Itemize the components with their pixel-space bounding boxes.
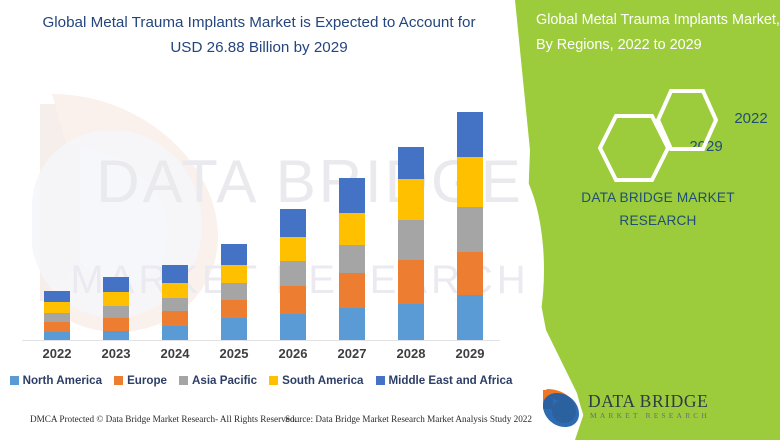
bar-segment-2023-europe xyxy=(103,318,129,331)
bar-segment-2024-middle-east-and-africa xyxy=(162,265,188,283)
x-axis-label-2022: 2022 xyxy=(28,346,86,361)
bar-segment-2026-north-america xyxy=(280,314,306,340)
bar-segment-2029-europe xyxy=(457,252,483,295)
legend-item-south-america[interactable]: South America xyxy=(269,374,363,387)
bar-segment-2029-middle-east-and-africa xyxy=(457,112,483,157)
bar-segment-2023-north-america xyxy=(103,331,129,340)
legend-label: North America xyxy=(23,374,102,387)
bar-segment-2026-asia-pacific xyxy=(280,261,306,286)
bar-2028 xyxy=(398,147,424,340)
bar-segment-2028-asia-pacific xyxy=(398,220,424,260)
bar-2023 xyxy=(103,277,129,340)
legend-item-asia-pacific[interactable]: Asia Pacific xyxy=(179,374,257,387)
bar-segment-2023-middle-east-and-africa xyxy=(103,277,129,292)
x-axis-label-2024: 2024 xyxy=(146,346,204,361)
hexagon-2022-label: 2022 xyxy=(719,110,780,127)
bar-segment-2024-asia-pacific xyxy=(162,298,188,311)
bar-segment-2029-south-america xyxy=(457,157,483,207)
chart-x-axis-labels: 20222023202420252026202720282029 xyxy=(0,346,510,366)
infographic-canvas: DATA BRIDGE MARKET RESEARCH Global Metal… xyxy=(0,0,780,440)
bar-segment-2029-north-america xyxy=(457,295,483,340)
legend-swatch-icon xyxy=(376,376,385,385)
legend-label: Europe xyxy=(127,374,167,387)
bar-segment-2026-middle-east-and-africa xyxy=(280,209,306,237)
legend-item-middle-east-and-africa[interactable]: Middle East and Africa xyxy=(376,374,513,387)
panel-title: Global Metal Trauma Implants Market, By … xyxy=(536,8,780,58)
bar-segment-2028-europe xyxy=(398,260,424,304)
x-axis-label-2029: 2029 xyxy=(441,346,499,361)
panel-brand-text: DATA BRIDGE MARKET RESEARCH xyxy=(552,186,764,232)
bar-2025 xyxy=(221,244,247,340)
bar-segment-2029-asia-pacific xyxy=(457,207,483,252)
bar-segment-2023-south-america xyxy=(103,292,129,306)
stacked-bar-chart: 20222023202420252026202720282029 xyxy=(0,0,510,350)
legend-swatch-icon xyxy=(179,376,188,385)
bar-2022 xyxy=(44,291,70,340)
bar-segment-2027-south-america xyxy=(339,213,365,245)
legend-swatch-icon xyxy=(269,376,278,385)
x-axis-label-2025: 2025 xyxy=(205,346,263,361)
bar-segment-2026-south-america xyxy=(280,237,306,261)
logo-b-icon xyxy=(540,387,582,429)
logo-wordmark: DATA BRIDGE xyxy=(588,391,708,412)
bar-2027 xyxy=(339,178,365,340)
chart-axis-line xyxy=(22,340,500,341)
chart-legend: North AmericaEuropeAsia PacificSouth Ame… xyxy=(12,371,510,389)
bar-segment-2025-asia-pacific xyxy=(221,283,247,300)
x-axis-label-2028: 2028 xyxy=(382,346,440,361)
legend-item-europe[interactable]: Europe xyxy=(114,374,167,387)
bar-segment-2024-south-america xyxy=(162,283,188,298)
bar-segment-2027-north-america xyxy=(339,308,365,340)
x-axis-label-2023: 2023 xyxy=(87,346,145,361)
hexagon-2022: 2022 xyxy=(655,88,719,152)
bar-segment-2026-europe xyxy=(280,286,306,314)
bar-2024 xyxy=(162,265,188,340)
bar-segment-2024-europe xyxy=(162,311,188,326)
legend-swatch-icon xyxy=(10,376,19,385)
bar-segment-2025-north-america xyxy=(221,318,247,340)
footer-source: Source: Data Bridge Market Research Mark… xyxy=(285,414,532,424)
bar-segment-2028-south-america xyxy=(398,179,424,220)
legend-label: South America xyxy=(282,374,363,387)
bar-2029 xyxy=(457,112,483,340)
bar-segment-2027-europe xyxy=(339,273,365,308)
bar-segment-2022-north-america xyxy=(44,332,70,340)
bar-segment-2022-asia-pacific xyxy=(44,313,70,322)
bar-segment-2027-middle-east-and-africa xyxy=(339,178,365,213)
legend-item-north-america[interactable]: North America xyxy=(10,374,102,387)
bar-2026 xyxy=(280,209,306,340)
bar-segment-2025-middle-east-and-africa xyxy=(221,244,247,265)
bar-segment-2022-middle-east-and-africa xyxy=(44,291,70,302)
legend-swatch-icon xyxy=(114,376,123,385)
footer-copyright: DMCA Protected © Data Bridge Market Rese… xyxy=(30,414,297,424)
legend-label: Middle East and Africa xyxy=(389,374,513,387)
bar-segment-2028-north-america xyxy=(398,304,424,340)
bar-segment-2023-asia-pacific xyxy=(103,306,129,318)
legend-label: Asia Pacific xyxy=(192,374,257,387)
x-axis-label-2026: 2026 xyxy=(264,346,322,361)
bar-segment-2025-south-america xyxy=(221,265,247,283)
bar-segment-2028-middle-east-and-africa xyxy=(398,147,424,179)
bar-segment-2027-asia-pacific xyxy=(339,245,365,273)
bar-segment-2022-europe xyxy=(44,322,70,332)
data-bridge-logo: DATA BRIDGE MARKET RESEARCH xyxy=(540,385,740,431)
bar-segment-2024-north-america xyxy=(162,326,188,340)
logo-tagline: MARKET RESEARCH xyxy=(590,411,710,420)
bar-segment-2022-south-america xyxy=(44,302,70,313)
footer: DMCA Protected © Data Bridge Market Rese… xyxy=(0,414,520,436)
x-axis-label-2027: 2027 xyxy=(323,346,381,361)
bar-segment-2025-europe xyxy=(221,300,247,318)
